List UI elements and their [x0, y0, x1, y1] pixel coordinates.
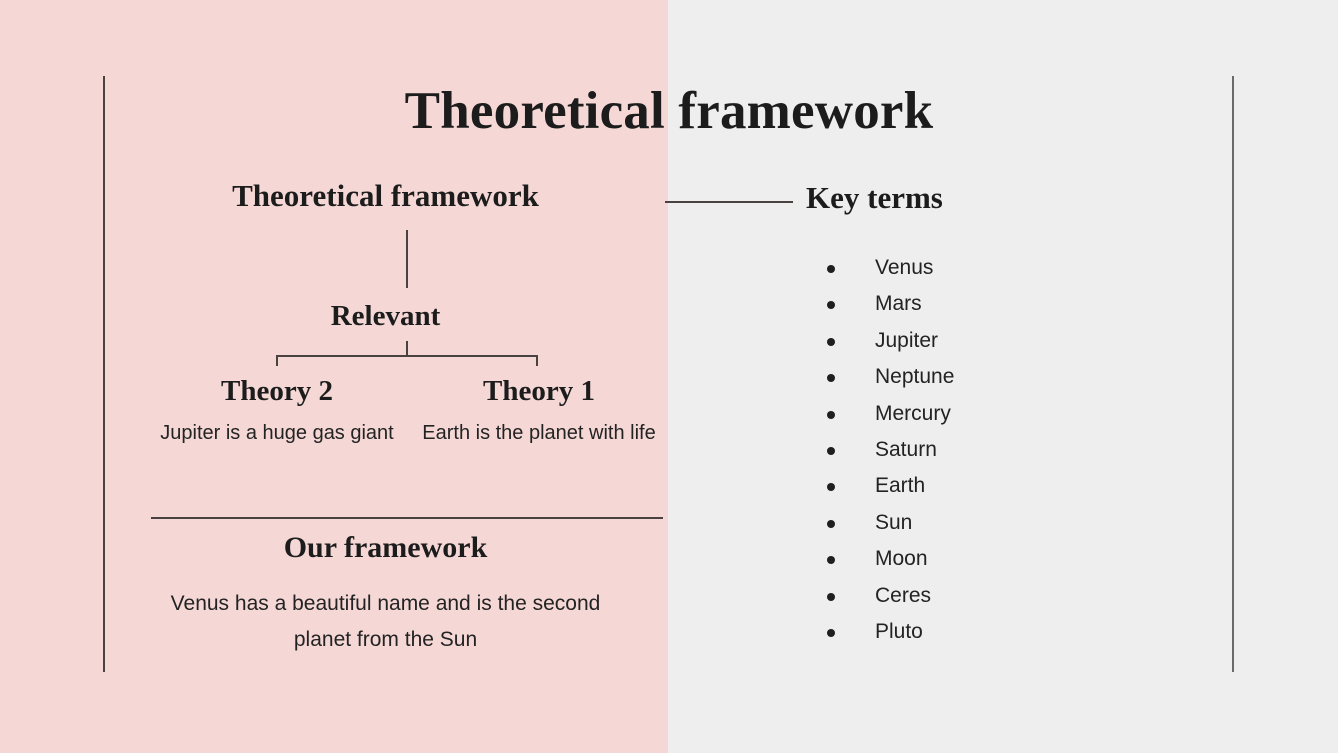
list-item: Sun: [824, 507, 954, 543]
our-framework-body: Venus has a beautiful name and is the se…: [163, 586, 608, 658]
bullet-icon: [827, 556, 835, 564]
list-item: Mercury: [824, 398, 954, 434]
tree-node-relevant: Relevant: [103, 300, 668, 333]
bullet-icon: [827, 301, 835, 309]
vertical-rule-right: [1232, 76, 1234, 672]
list-item: Moon: [824, 543, 954, 579]
bullet-icon: [827, 629, 835, 637]
list-item-label: Saturn: [875, 438, 937, 461]
tree-connector-bracket: [276, 341, 538, 358]
list-item-label: Mercury: [875, 402, 951, 425]
list-item: Venus: [824, 252, 954, 288]
list-item-label: Venus: [875, 256, 933, 279]
bullet-icon: [827, 447, 835, 455]
list-item-label: Earth: [875, 474, 925, 497]
list-item: Pluto: [824, 616, 954, 652]
slide-canvas: Theoretical framework Theoretical framew…: [0, 0, 1338, 753]
our-framework-title: Our framework: [103, 531, 668, 565]
key-terms-list: Venus Mars Jupiter Neptune Mercury Satur…: [824, 252, 954, 652]
bracket-drop-left: [276, 355, 278, 366]
bracket-bar: [276, 355, 538, 357]
bracket-stem: [406, 341, 408, 356]
tree-leaf-title: Theory 2: [141, 375, 413, 408]
list-item: Jupiter: [824, 325, 954, 361]
bullet-icon: [827, 411, 835, 419]
bullet-icon: [827, 520, 835, 528]
bracket-drop-right: [536, 355, 538, 366]
tree-leaf-theory-2: Theory 2 Jupiter is a huge gas giant: [141, 375, 413, 448]
theoretical-framework-tree: Theoretical framework Relevant Theory 2 …: [103, 0, 668, 753]
horizontal-divider: [151, 517, 663, 519]
tree-leaf-body: Jupiter is a huge gas giant: [141, 419, 413, 447]
bullet-icon: [827, 374, 835, 382]
tree-leaf-body: Earth is the planet with life: [403, 419, 675, 447]
list-item-label: Moon: [875, 547, 928, 570]
bullet-icon: [827, 593, 835, 601]
bullet-icon: [827, 483, 835, 491]
key-terms-heading: Key terms: [806, 180, 943, 216]
connector-line-to-key-terms: [665, 201, 793, 203]
list-item-label: Mars: [875, 292, 922, 315]
list-item-label: Ceres: [875, 584, 931, 607]
list-item: Ceres: [824, 580, 954, 616]
list-item: Neptune: [824, 361, 954, 397]
list-item-label: Pluto: [875, 620, 923, 643]
tree-leaf-theory-1: Theory 1 Earth is the planet with life: [403, 375, 675, 448]
tree-node-root: Theoretical framework: [103, 178, 668, 214]
list-item-label: Neptune: [875, 365, 954, 388]
list-item: Saturn: [824, 434, 954, 470]
list-item-label: Sun: [875, 511, 912, 534]
list-item: Earth: [824, 470, 954, 506]
list-item: Mars: [824, 288, 954, 324]
tree-leaf-title: Theory 1: [403, 375, 675, 408]
list-item-label: Jupiter: [875, 329, 938, 352]
bullet-icon: [827, 265, 835, 273]
tree-connector-root-stem: [406, 230, 408, 288]
bullet-icon: [827, 338, 835, 346]
